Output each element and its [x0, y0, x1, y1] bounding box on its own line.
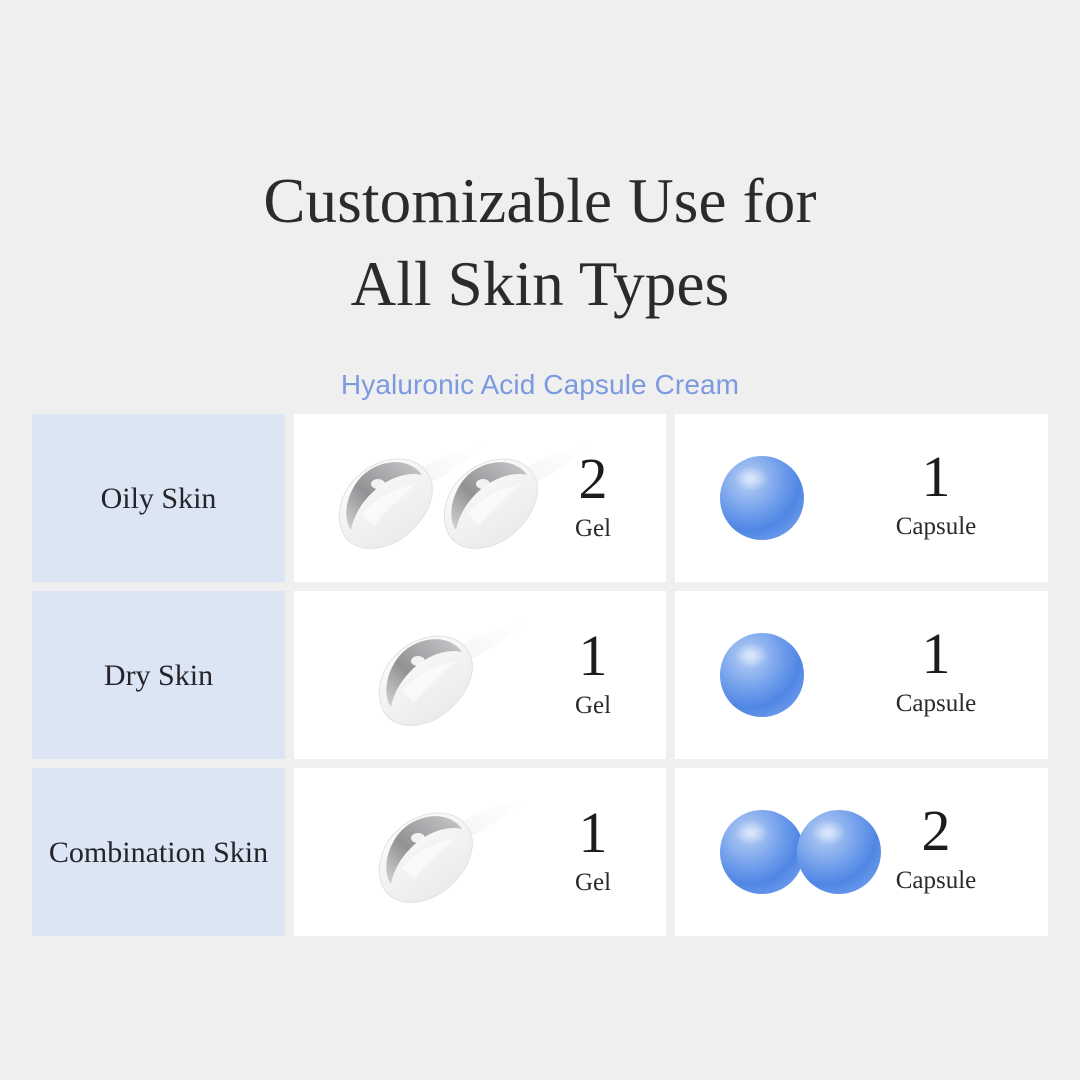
skin-type-label: Combination Skin	[39, 831, 278, 874]
skin-type-label: Dry Skin	[94, 654, 223, 697]
gel-swatch-icon	[372, 621, 522, 733]
skin-type-cell: Combination Skin	[32, 768, 285, 936]
page-title: Customizable Use for All Skin Types	[0, 160, 1080, 326]
capsule-group	[720, 591, 980, 759]
table-row: Oily Skin	[32, 414, 1048, 582]
gel-amount-cell: 1 Gel	[294, 768, 666, 936]
capsule-amount-cell: 1 Capsule	[675, 591, 1048, 759]
capsule-group	[720, 414, 980, 582]
capsule-sphere-icon	[720, 633, 804, 717]
gel-swatch-group	[312, 768, 622, 936]
skin-type-label: Oily Skin	[91, 477, 227, 520]
gel-amount-cell: 1 Gel	[294, 591, 666, 759]
gel-swatch-icon	[372, 798, 522, 910]
gel-swatch-group	[312, 414, 622, 582]
capsule-sphere-icon	[797, 810, 881, 894]
capsule-amount-cell: 2 Capsule	[675, 768, 1048, 936]
page-header: Customizable Use for All Skin Types Hyal…	[0, 118, 1080, 402]
gel-amount-cell: 2 Gel	[294, 414, 666, 582]
page-title-line-1: Customizable Use for	[0, 160, 1080, 243]
capsule-group	[720, 768, 980, 936]
gel-swatch-group	[312, 591, 622, 759]
table-row: Combination Skin	[32, 768, 1048, 936]
usage-table: Oily Skin	[32, 414, 1048, 936]
product-subtitle: Hyaluronic Acid Capsule Cream	[0, 368, 1080, 402]
capsule-sphere-icon	[720, 810, 804, 894]
capsule-sphere-icon	[720, 456, 804, 540]
table-row: Dry Skin	[32, 591, 1048, 759]
gel-swatch-icon	[437, 444, 587, 556]
skin-type-cell: Dry Skin	[32, 591, 285, 759]
page-title-line-2: All Skin Types	[0, 243, 1080, 326]
capsule-amount-cell: 1 Capsule	[675, 414, 1048, 582]
skin-type-cell: Oily Skin	[32, 414, 285, 582]
